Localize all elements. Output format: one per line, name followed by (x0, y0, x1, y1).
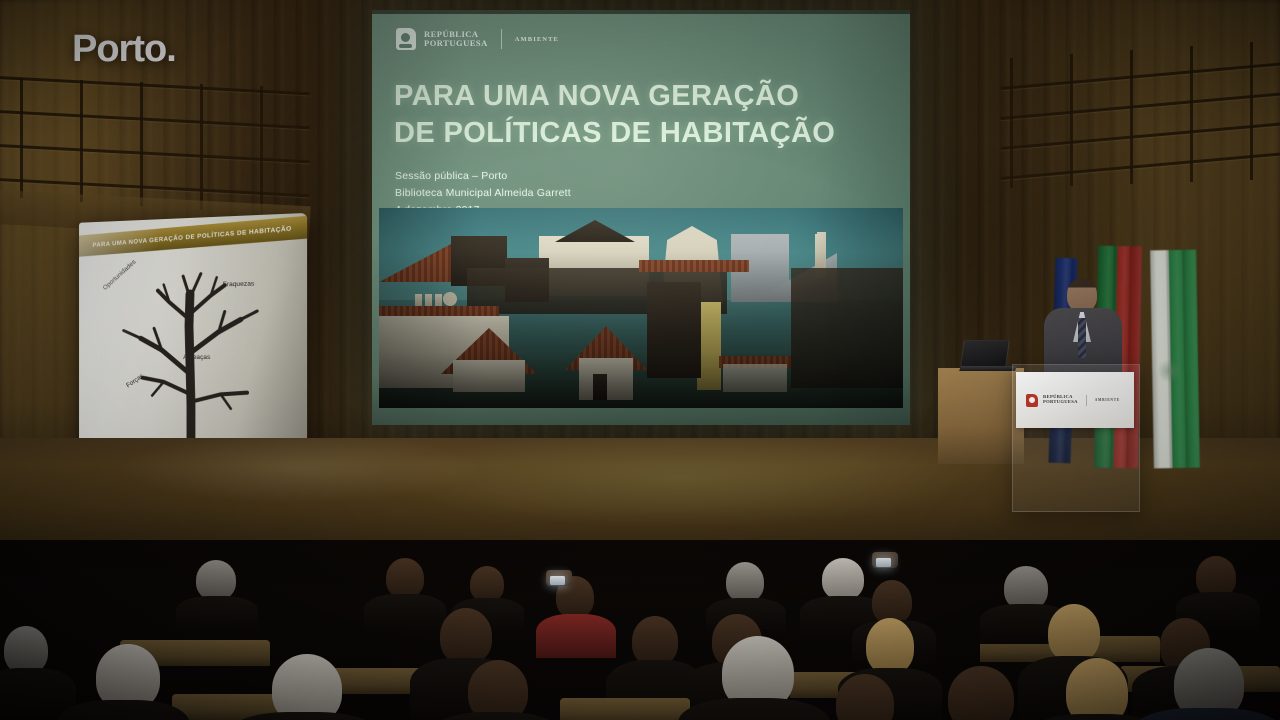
seated-audience (0, 540, 1280, 720)
lectern-sign-line2: PORTUGUESA (1043, 400, 1078, 405)
presentation-slide: REPÚBLICA PORTUGUESA AMBIENTE PARA UMA N… (372, 10, 910, 425)
porto-watermark-logo: Porto. (72, 28, 176, 71)
audience-phone-right (876, 558, 891, 567)
photo-shading (379, 208, 903, 408)
slide-subtitle-line2: Biblioteca Municipal Almeida Garrett (395, 185, 571, 202)
audience-phone-left (550, 576, 565, 585)
laptop-keyboard (959, 366, 1017, 371)
speaker-head (1067, 278, 1097, 312)
projection-screen: REPÚBLICA PORTUGUESA AMBIENTE PARA UMA N… (372, 10, 910, 425)
conference-hall-scene: REPÚBLICA PORTUGUESA AMBIENTE PARA UMA N… (0, 0, 1280, 720)
screen-frame (372, 10, 910, 14)
slide-rooftops-photo (379, 208, 903, 408)
porto-city-flag (1150, 250, 1200, 469)
laptop-screen (960, 340, 1010, 367)
slide-logo-line2: PORTUGUESA (424, 39, 488, 48)
slide-logo-divider (501, 29, 502, 49)
slide-subtitle-line1: Sessão pública – Porto (395, 168, 571, 185)
lectern-sign-tag: AMBIENTE (1095, 398, 1120, 402)
lectern-sign-divider (1086, 395, 1087, 406)
speaker-tie (1078, 318, 1086, 358)
slide-logo: REPÚBLICA PORTUGUESA AMBIENTE (396, 28, 559, 50)
slide-title: PARA UMA NOVA GERAÇÃO DE POLÍTICAS DE HA… (394, 78, 874, 151)
lectern-sign: REPÚBLICA PORTUGUESA AMBIENTE (1016, 372, 1134, 428)
slide-logo-tag: AMBIENTE (515, 36, 559, 43)
republica-portuguesa-sign-icon (1026, 394, 1038, 407)
slide-title-line1: PARA UMA NOVA GERAÇÃO (394, 78, 874, 115)
slide-title-line2: DE POLÍTICAS DE HABITAÇÃO (394, 115, 874, 152)
slide-logo-wordmark: REPÚBLICA PORTUGUESA (424, 30, 488, 47)
laptop (960, 340, 1016, 372)
lectern-sign-wordmark: REPÚBLICA PORTUGUESA (1043, 395, 1078, 405)
balcony-right (1000, 0, 1280, 194)
republica-portuguesa-mark-icon (396, 28, 416, 50)
balcony-left (0, 78, 310, 228)
